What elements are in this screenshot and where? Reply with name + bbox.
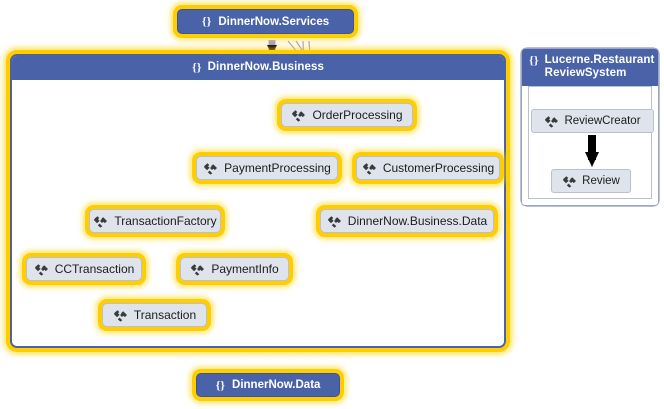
assembly-label: DinnerNow.Business (208, 61, 324, 74)
node-transactionfactory[interactable]: TransactionFactory (85, 205, 225, 237)
node-label: DinnerNow.Business.Data (348, 215, 487, 228)
node-label: CCTransaction (55, 263, 135, 276)
assembly-dinnernow-data[interactable]: {} DinnerNow.Data (192, 369, 344, 401)
node-label: PaymentProcessing (224, 162, 331, 175)
node-orderprocessing[interactable]: OrderProcessing (277, 99, 417, 131)
class-assembly-icon (562, 175, 577, 188)
node-reviewcreator[interactable]: ReviewCreator (531, 109, 654, 133)
assembly-lucerne-header: {} Lucerne.Restaurant ReviewSystem (522, 49, 658, 86)
assembly-dinnernow-services[interactable]: {} DinnerNow.Services (173, 5, 358, 38)
node-label: Transaction (134, 309, 196, 322)
node-label: Review (582, 175, 620, 188)
class-assembly-icon (291, 109, 306, 122)
node-paymentinfo[interactable]: PaymentInfo (176, 253, 293, 285)
node-transaction[interactable]: Transaction (98, 299, 211, 331)
node-label: PaymentInfo (211, 263, 278, 276)
node-dinnernow-business-data[interactable]: DinnerNow.Business.Data (316, 205, 498, 237)
assembly-label-line2: ReviewSystem (545, 67, 655, 80)
class-assembly-icon (34, 263, 49, 276)
namespace-braces-icon: {} (216, 379, 225, 392)
node-paymentprocessing[interactable]: PaymentProcessing (192, 152, 342, 184)
assembly-label-line1: Lucerne.Restaurant (545, 54, 655, 67)
node-review[interactable]: Review (551, 169, 631, 193)
assembly-label: DinnerNow.Services (218, 16, 329, 28)
namespace-braces-icon: {} (202, 15, 211, 28)
node-label: CustomerProcessing (383, 162, 494, 175)
node-cctransaction[interactable]: CCTransaction (22, 253, 146, 285)
node-customerprocessing[interactable]: CustomerProcessing (352, 152, 504, 184)
assembly-business-header: {} DinnerNow.Business (12, 56, 504, 80)
class-assembly-icon (203, 162, 218, 175)
assembly-label: DinnerNow.Data (232, 379, 320, 391)
class-assembly-icon (362, 162, 377, 175)
class-assembly-icon (190, 263, 205, 276)
assembly-dinnernow-business[interactable]: {} DinnerNow.Business (6, 50, 510, 352)
namespace-braces-icon: {} (529, 54, 539, 67)
node-label: OrderProcessing (312, 109, 402, 122)
class-assembly-icon (113, 309, 128, 322)
class-assembly-icon (93, 215, 108, 228)
namespace-braces-icon: {} (192, 61, 202, 74)
class-assembly-icon (327, 215, 342, 228)
class-assembly-icon (544, 115, 559, 128)
node-label: TransactionFactory (114, 215, 216, 228)
node-label: ReviewCreator (564, 115, 640, 128)
diagram-canvas: {} DinnerNow.Services {} DinnerNow.Data … (0, 0, 664, 409)
